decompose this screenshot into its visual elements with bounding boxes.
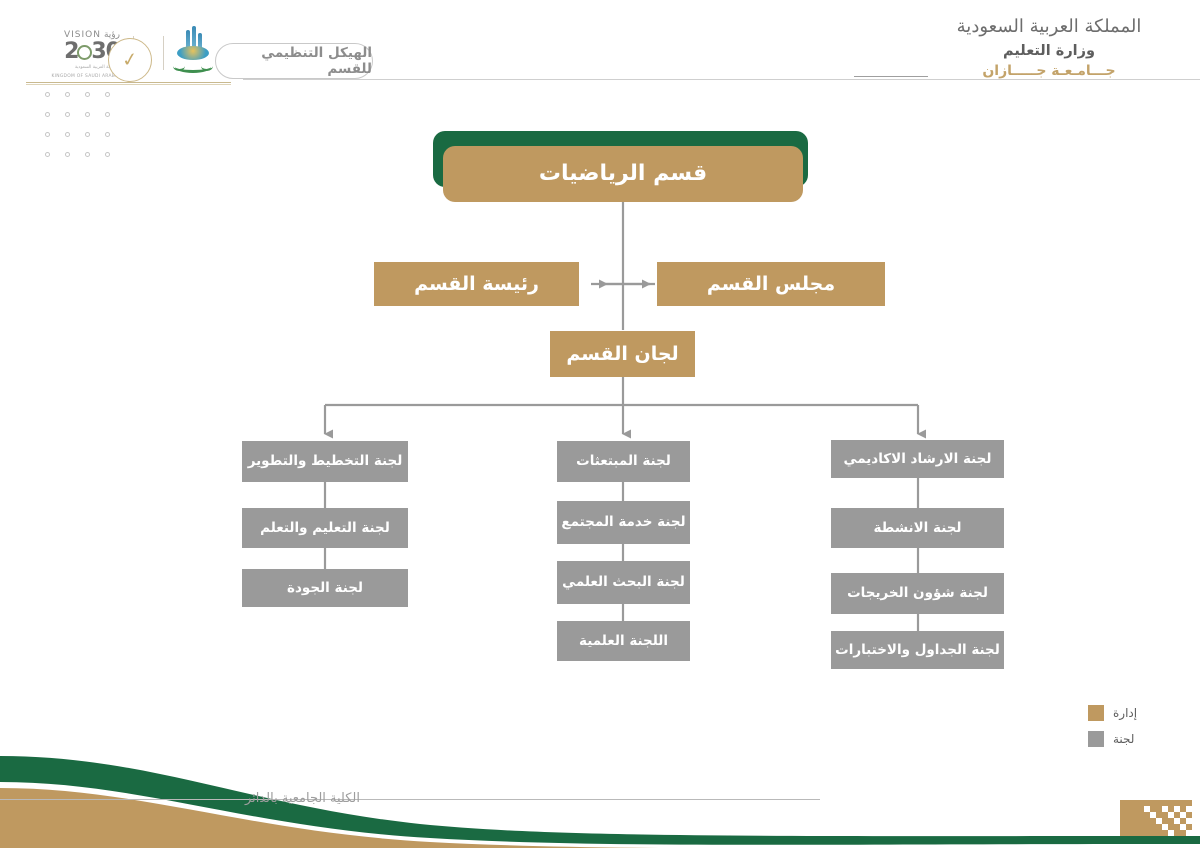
node-committee[interactable]: لجنة الارشاد الاكاديمي bbox=[831, 440, 1004, 478]
page-title-label: الهيكل التنظيمي للقسم bbox=[216, 45, 372, 77]
legend-item-admin: إدارة bbox=[1088, 700, 1176, 726]
node-label: رئيسة القسم bbox=[414, 273, 539, 296]
node-committee[interactable]: لجنة البحث العلمي bbox=[557, 561, 690, 604]
legend-swatch-admin bbox=[1088, 705, 1104, 721]
node-committee[interactable]: لجنة الانشطة bbox=[831, 508, 1004, 548]
pixel-cell bbox=[1186, 800, 1192, 806]
node-label: لجنة البحث العلمي bbox=[562, 574, 685, 590]
page-footer: الكلية الجامعية بالدائر bbox=[0, 738, 1200, 848]
node-label: لجنة التعليم والتعلم bbox=[260, 520, 390, 536]
node-label: مجلس القسم bbox=[707, 273, 835, 296]
node-label: لجنة الانشطة bbox=[873, 520, 961, 536]
pixel-cell bbox=[1186, 812, 1192, 818]
node-label: لجنة المبتعثات bbox=[576, 453, 671, 469]
node-committee[interactable]: لجنة الجداول والاختبارات bbox=[831, 631, 1004, 669]
pixel-cell bbox=[1186, 824, 1192, 830]
footer-wave-decoration bbox=[0, 738, 1200, 848]
legend-label: إدارة bbox=[1113, 706, 1137, 720]
page-title-tab[interactable]: الهيكل التنظيمي للقسم bbox=[215, 43, 373, 79]
node-department-council[interactable]: مجلس القسم bbox=[657, 262, 885, 306]
node-committee[interactable]: لجنة خدمة المجتمع bbox=[557, 501, 690, 544]
node-committee[interactable]: لجنة التعليم والتعلم bbox=[242, 508, 408, 548]
node-label: لجنة خدمة المجتمع bbox=[561, 514, 685, 530]
node-committee[interactable]: اللجنة العلمية bbox=[557, 621, 690, 661]
node-label: قسم الرياضيات bbox=[539, 161, 707, 187]
node-committee[interactable]: لجنة التخطيط والتطوير bbox=[242, 441, 408, 482]
pixel-decoration bbox=[1120, 800, 1194, 842]
node-label: لجنة الجداول والاختبارات bbox=[835, 642, 1000, 658]
node-label: لجنة الارشاد الاكاديمي bbox=[844, 451, 992, 467]
node-label: لجان القسم bbox=[566, 343, 678, 366]
node-label: لجنة الجودة bbox=[287, 580, 363, 596]
header-rule bbox=[243, 79, 1200, 80]
node-department-head[interactable]: رئيسة القسم bbox=[374, 262, 579, 306]
node-department-committees[interactable]: لجان القسم bbox=[550, 331, 695, 377]
node-committee[interactable]: لجنة الجودة bbox=[242, 569, 408, 607]
pixel-cell bbox=[1180, 830, 1186, 836]
node-label: لجنة شؤون الخريجات bbox=[847, 585, 988, 601]
header-rule-gold bbox=[26, 82, 231, 83]
node-label: اللجنة العلمية bbox=[579, 633, 668, 649]
footer-label: الكلية الجامعية بالدائر bbox=[245, 791, 360, 806]
org-chart: قسم الرياضيات رئيسة القسم مجلس القسم لجا… bbox=[0, 0, 1200, 848]
node-root[interactable]: قسم الرياضيات bbox=[443, 146, 803, 202]
pixel-cell bbox=[1162, 830, 1168, 836]
node-committee[interactable]: لجنة شؤون الخريجات bbox=[831, 573, 1004, 614]
footer-rule bbox=[0, 799, 820, 800]
connector-lines bbox=[0, 0, 1200, 848]
header-rule-gold-2 bbox=[26, 84, 231, 85]
node-committee[interactable]: لجنة المبتعثات bbox=[557, 441, 690, 482]
node-label: لجنة التخطيط والتطوير bbox=[248, 453, 403, 469]
